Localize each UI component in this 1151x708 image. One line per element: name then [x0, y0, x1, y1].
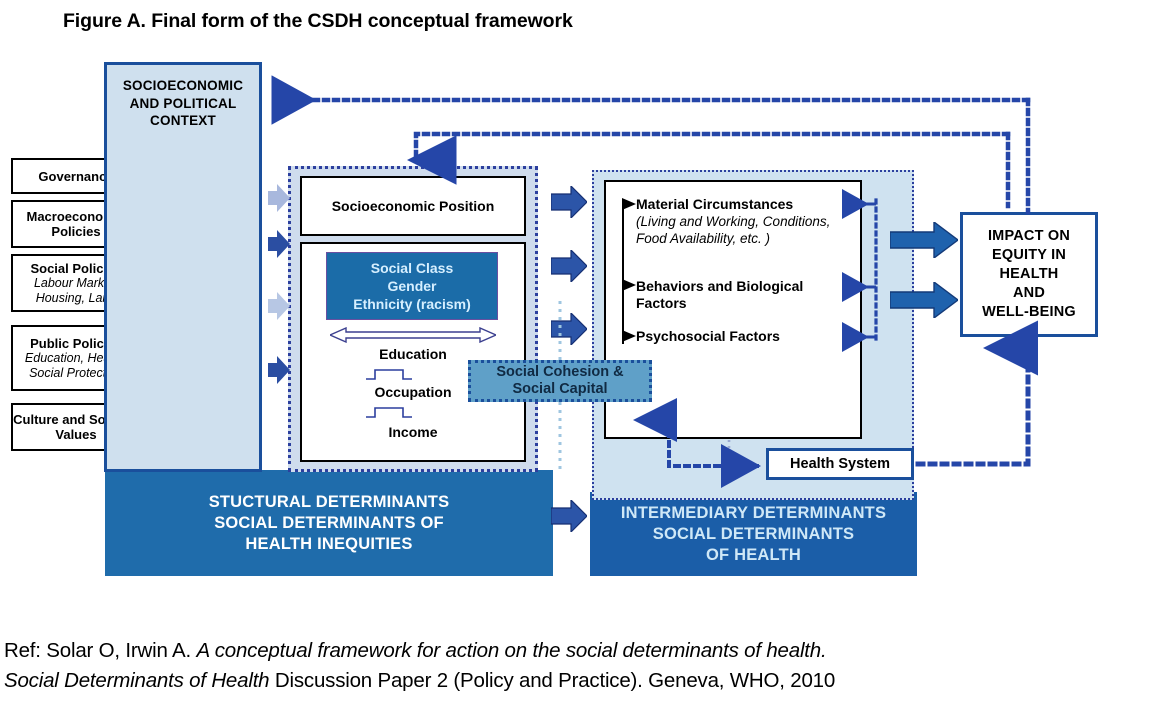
socioeconomic-political-context-column: SOCIOECONOMIC AND POLITICAL CONTEXT — [104, 62, 262, 472]
intermediary-item-material-sub: (Living and Working, Conditions, Food Av… — [636, 213, 846, 247]
impact-line2: EQUITY IN — [982, 246, 1076, 265]
intermediary-spine — [622, 204, 624, 344]
ref-line2-plain: Discussion Paper 2 (Policy and Practice)… — [269, 669, 835, 692]
banner-intermediary-determinants: INTERMEDIARY DETERMINANTS SOCIAL DETERMI… — [590, 492, 917, 576]
flow-arrow-icon-banner-link — [551, 500, 587, 532]
flow-arrow-icon-mid-3 — [551, 313, 587, 345]
context-item-governance-label: Governance — [38, 169, 113, 184]
reference-citation: Ref: Solar O, Irwin A. A conceptual fram… — [4, 636, 1147, 696]
ref-line1-plain: Ref: Solar O, Irwin A. — [4, 639, 197, 662]
banner-intermediary-line3: OF HEALTH — [621, 545, 886, 566]
intermediary-item-material-label: Material Circumstances — [636, 196, 846, 213]
context-column-heading: SOCIOECONOMIC AND POLITICAL CONTEXT — [107, 77, 259, 130]
flow-arrow-icon-mid-1 — [551, 186, 587, 218]
impact-line1: IMPACT ON — [982, 227, 1076, 246]
banner-structural-line1: STUCTURAL DETERMINANTS — [209, 492, 450, 513]
social-class-gender-ethnicity-box[interactable]: Social Class Gender Ethnicity (racism) — [326, 252, 498, 320]
impact-on-equity-box[interactable]: IMPACT ON EQUITY IN HEALTH AND WELL-BEIN… — [960, 212, 1098, 337]
wire-health-system-to-impact — [918, 348, 1028, 464]
double-headed-arrow-icon — [330, 327, 496, 343]
cohesion-line1: Social Cohesion & — [496, 364, 623, 381]
cohesion-line2: Social Capital — [496, 381, 623, 398]
intermediary-item-behaviors-label: Behaviors and Biological Factors — [636, 278, 806, 312]
arrow-head-icon-behaviors — [622, 279, 636, 291]
figure-canvas: Figure A. Final form of the CSDH concept… — [0, 0, 1151, 708]
arrow-head-icon-material — [622, 198, 636, 210]
context-heading-line2: AND POLITICAL — [107, 95, 259, 113]
context-heading-line3: CONTEXT — [107, 112, 259, 130]
flow-arrow-icon-impact-2 — [890, 282, 958, 318]
ref-line1-italic: A conceptual framework for action on the… — [197, 639, 827, 662]
flow-arrow-icon-mid-2 — [551, 250, 587, 282]
socioeconomic-position-label: Socioeconomic Position — [332, 197, 495, 215]
flow-arrow-icon-ctx-4 — [268, 356, 290, 384]
wire-impact-to-structural — [416, 134, 1008, 160]
context-heading-line1: SOCIOECONOMIC — [107, 77, 259, 95]
banner-intermediary-line1: INTERMEDIARY DETERMINANTS — [621, 503, 886, 524]
social-class-line1: Social Class — [353, 259, 470, 277]
flow-arrow-icon-ctx-1 — [268, 184, 290, 212]
health-system-box[interactable]: Health System — [766, 448, 914, 480]
bracket-connector-icon-2 — [365, 405, 413, 419]
impact-line5: WELL-BEING — [982, 303, 1076, 322]
intermediary-item-behaviors-biological-factors[interactable]: Behaviors and Biological Factors — [636, 278, 806, 312]
bracket-connector-icon-1 — [365, 367, 413, 381]
ref-line2-italic: Social Determinants of Health — [4, 669, 269, 692]
banner-intermediary-line2: SOCIAL DETERMINANTS — [621, 524, 886, 545]
flow-arrow-icon-impact-1 — [890, 222, 958, 258]
intermediary-item-psychosocial-factors[interactable]: Psychosocial Factors — [636, 328, 836, 345]
figure-title: Figure A. Final form of the CSDH concept… — [63, 10, 573, 33]
social-class-line3: Ethnicity (racism) — [353, 295, 470, 313]
impact-line3: HEALTH — [982, 265, 1076, 284]
banner-structural-line3: HEALTH INEQUITIES — [209, 534, 450, 555]
arrow-head-icon-psychosocial — [622, 330, 636, 342]
flow-arrow-icon-ctx-3 — [268, 292, 290, 320]
impact-line4: AND — [982, 284, 1076, 303]
chain-label-income: Income — [300, 424, 526, 440]
social-cohesion-social-capital-box[interactable]: Social Cohesion & Social Capital — [468, 360, 652, 402]
social-class-line2: Gender — [353, 277, 470, 295]
intermediary-item-psychosocial-label: Psychosocial Factors — [636, 328, 836, 345]
banner-structural-determinants: STUCTURAL DETERMINANTS SOCIAL DETERMINAN… — [105, 470, 553, 576]
banner-structural-line2: SOCIAL DETERMINANTS OF — [209, 513, 450, 534]
intermediary-item-material-circumstances[interactable]: Material Circumstances (Living and Worki… — [636, 196, 846, 247]
health-system-label: Health System — [790, 456, 890, 472]
socioeconomic-position-box[interactable]: Socioeconomic Position — [300, 176, 526, 236]
flow-arrow-icon-ctx-2 — [268, 230, 290, 258]
